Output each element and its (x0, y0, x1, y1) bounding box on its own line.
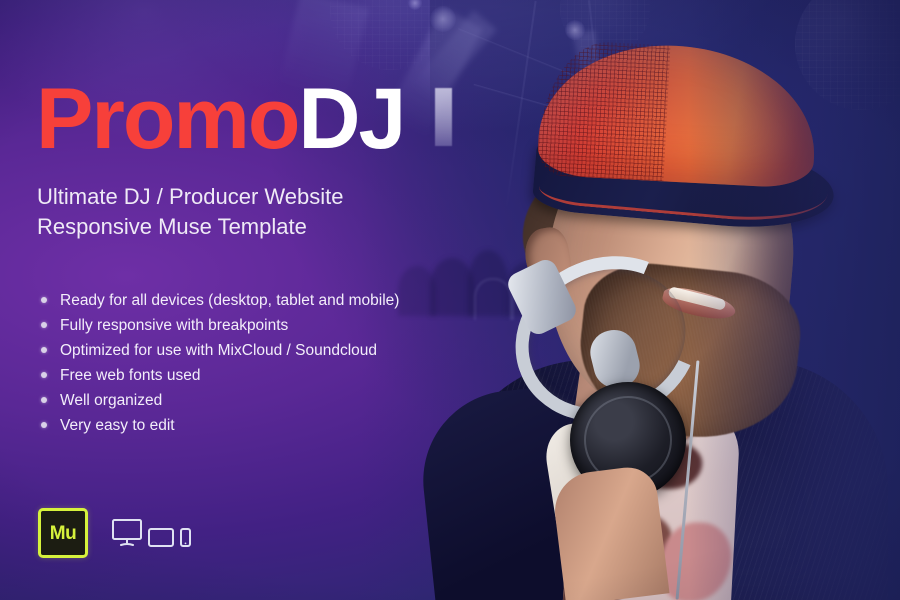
mobile-phone-icon (180, 528, 191, 547)
subtitle: Ultimate DJ / Producer Website Responsiv… (37, 182, 477, 242)
badge-row: Mu (38, 508, 191, 558)
list-item: Ready for all devices (desktop, tablet a… (38, 288, 498, 313)
subtitle-line-1: Ultimate DJ / Producer Website (37, 182, 477, 212)
subtitle-line-2: Responsive Muse Template (37, 212, 477, 242)
list-item: Well organized (38, 388, 498, 413)
feature-list: Ready for all devices (desktop, tablet a… (38, 288, 498, 438)
desktop-monitor-icon (112, 519, 142, 547)
hero-content: PromoDJ Ultimate DJ / Producer Website R… (0, 0, 520, 600)
adobe-muse-label: Mu (50, 524, 76, 543)
list-item: Optimized for use with MixCloud / Soundc… (38, 338, 498, 363)
page-title: PromoDJ (36, 72, 404, 166)
promo-banner: PromoDJ Ultimate DJ / Producer Website R… (0, 0, 900, 600)
title-promo: Promo (36, 71, 298, 167)
device-support-icons (112, 519, 191, 547)
list-item: Fully responsive with breakpoints (38, 313, 498, 338)
list-item: Very easy to edit (38, 413, 498, 438)
title-dj: DJ (298, 71, 404, 167)
tablet-icon (148, 528, 174, 547)
list-item: Free web fonts used (38, 363, 498, 388)
adobe-muse-icon: Mu (38, 508, 88, 558)
